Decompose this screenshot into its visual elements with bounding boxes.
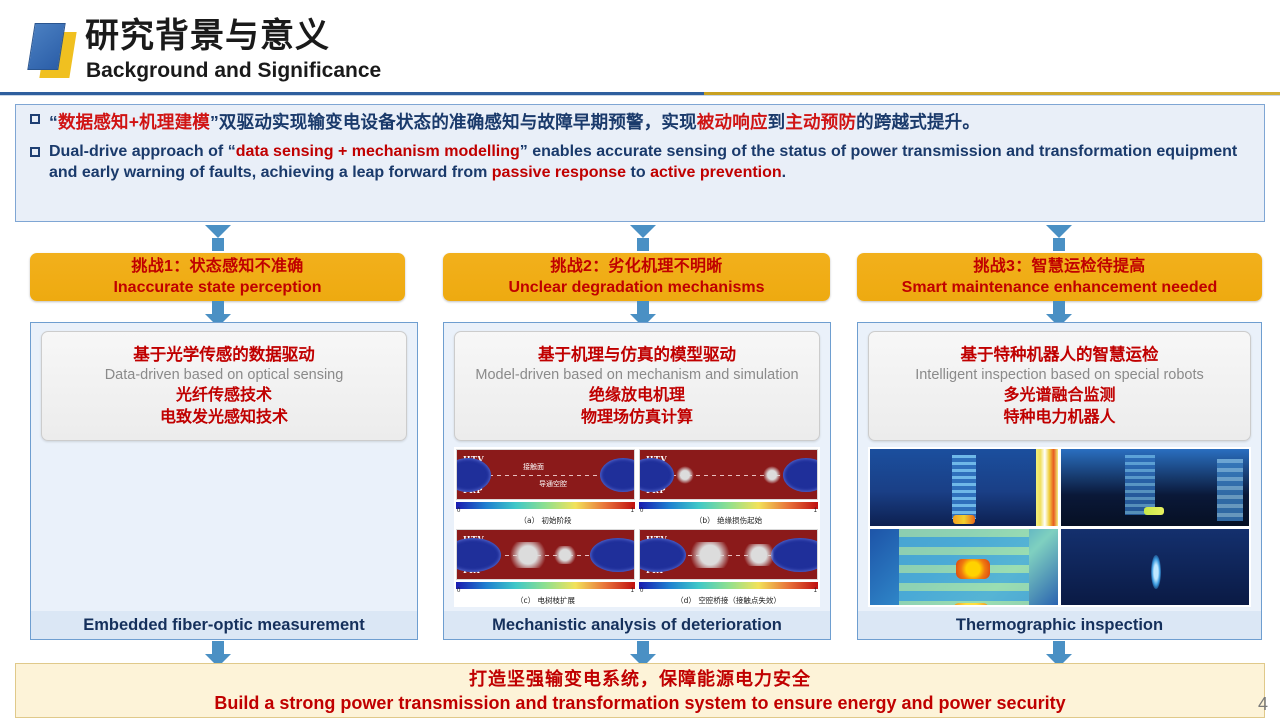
statement-text-en: Dual-drive approach of “data sensing + m… [49, 138, 1264, 183]
colorbar-max: 1 [631, 588, 634, 594]
hotspot [1144, 507, 1164, 515]
approach-keyword: 特种电力机器人 [1003, 407, 1115, 429]
banner-text-en: Build a strong power transmission and tr… [214, 691, 1065, 715]
colorbar-min: 0 [457, 588, 460, 594]
colorbar-max: 1 [631, 508, 634, 514]
page-title-cn: 研究背景与意义 [85, 16, 330, 56]
simulation-image: HTV FRP [639, 529, 818, 580]
figure-caption: Thermographic inspection [956, 616, 1163, 635]
key-statement-box: “数据感知+机理建模”双驱动实现输变电设备状态的准确感知与故障早期预警，实现被动… [15, 104, 1265, 222]
approach-title-cn: 基于机理与仿真的模型驱动 [538, 344, 736, 366]
figure-caption: Embedded fiber-optic measurement [83, 616, 364, 635]
bushing-tube [1217, 459, 1243, 521]
approach-title-cn: 基于光学传感的数据驱动 [133, 344, 315, 366]
thermal-image-bushing [1061, 449, 1249, 526]
void-cavity [456, 458, 491, 492]
simulation-caption: （a） 初始阶段 [456, 509, 635, 525]
electrical-tree [501, 542, 555, 568]
bullet-icon [30, 112, 40, 127]
approach-keyword: 绝缘放电机理 [589, 385, 685, 407]
challenge-title-cn: 挑战2：劣化机理不明晰 [550, 256, 722, 277]
insulator-string [952, 455, 976, 519]
void-cavity [783, 458, 818, 492]
thermal-scale-strip [1036, 449, 1058, 526]
figure-caption-box-1: Embedded fiber-optic measurement [31, 611, 417, 639]
colorbar: 0 1 [639, 502, 818, 509]
void-cavity [600, 458, 635, 492]
electrical-tree [549, 546, 581, 564]
annotation-cavity: 导通空腔 [539, 479, 567, 489]
electrical-tree [680, 542, 740, 568]
header-divider-secondary [0, 95, 1280, 96]
colorbar-max: 1 [814, 588, 817, 594]
challenge-header-3[interactable]: 挑战3：智慧运检待提高 Smart maintenance enhancemen… [857, 253, 1262, 301]
approach-card-1: 基于光学传感的数据驱动 Data-driven based on optical… [41, 331, 407, 441]
void-cavity [639, 458, 674, 492]
electrical-tree [761, 465, 783, 485]
challenge-header-1[interactable]: 挑战1：状态感知不准确 Inaccurate state perception [30, 253, 405, 301]
challenge-title-en: Inaccurate state perception [113, 277, 321, 298]
colorbar-min: 0 [640, 508, 643, 514]
colorbar: 0 1 [456, 582, 635, 589]
challenge-title-cn: 挑战1：状态感知不准确 [131, 256, 303, 277]
approach-keyword: 多光谱融合监测 [1003, 385, 1115, 407]
challenge-title-cn: 挑战3：智慧运检待提高 [973, 256, 1145, 277]
simulation-tile-b: HTV FRP 0 1 （b） 绝缘损伤起始 [639, 449, 818, 525]
brand-logo-icon [27, 20, 85, 82]
approach-title-cn: 基于特种机器人的智慧运检 [961, 344, 1159, 366]
simulation-caption: （d） 空腔桥接（接触点失效） [639, 589, 818, 605]
simulation-image: HTV FRP [456, 529, 635, 580]
simulation-image: HTV FRP [639, 449, 818, 500]
insulator-string [1125, 455, 1155, 515]
simulation-tile-a: HTV FRP 接触面 导通空腔 0 1 （a） 初始阶段 [456, 449, 635, 525]
page-title-en: Background and Significance [86, 58, 381, 83]
void-cavity [639, 538, 686, 572]
simulation-image: HTV FRP 接触面 导通空腔 [456, 449, 635, 500]
column-panel-3: 基于特种机器人的智慧运检 Intelligent inspection base… [857, 322, 1262, 640]
thermal-image-insulator-string [870, 449, 1058, 526]
arrow-down-icon-3 [1046, 225, 1072, 251]
void-cavity [456, 538, 501, 572]
simulation-caption: （c） 电树枝扩展 [456, 589, 635, 605]
thermal-image-insulator-closeup [870, 529, 1058, 606]
figure-caption: Mechanistic analysis of deterioration [492, 616, 782, 635]
banner-text-cn: 打造坚强输变电系统，保障能源电力安全 [469, 667, 811, 691]
simulation-tile-c: HTV FRP 0 1 （c） 电树枝扩展 [456, 529, 635, 605]
slide-header: 研究背景与意义 Background and Significance [0, 0, 1280, 96]
approach-title-en: Data-driven based on optical sensing [105, 366, 344, 385]
colorbar: 0 1 [456, 502, 635, 509]
arrow-down-icon-2 [630, 225, 656, 251]
approach-keyword: 电致发光感知技术 [160, 407, 288, 429]
approach-card-3: 基于特种机器人的智慧运检 Intelligent inspection base… [868, 331, 1251, 441]
colorbar-min: 0 [457, 508, 460, 514]
challenge-header-2[interactable]: 挑战2：劣化机理不明晰 Unclear degradation mechanis… [443, 253, 830, 301]
approach-title-en: Intelligent inspection based on special … [915, 366, 1204, 385]
bullet-icon [30, 145, 40, 160]
statement-row-en: Dual-drive approach of “data sensing + m… [16, 138, 1264, 183]
arrow-down-icon-1 [205, 225, 231, 251]
column-panel-1: 基于光学传感的数据驱动 Data-driven based on optical… [30, 322, 418, 640]
corona-glow [1151, 555, 1161, 589]
hotspot [953, 603, 989, 606]
simulation-tile-d: HTV FRP 0 1 （d） 空腔桥接（接触点失效） [639, 529, 818, 605]
void-cavity [590, 538, 635, 572]
statement-row-cn: “数据感知+机理建模”双驱动实现输变电设备状态的准确感知与故障早期预警，实现被动… [16, 105, 1264, 136]
slide-root: 研究背景与意义 Background and Significance “数据感… [0, 0, 1280, 723]
hotspot [953, 515, 975, 524]
challenge-title-en: Smart maintenance enhancement needed [902, 277, 1218, 298]
colorbar-min: 0 [640, 588, 643, 594]
figure-htv-frp-simulation: HTV FRP 接触面 导通空腔 0 1 （a） 初始阶段 HTV [454, 447, 820, 607]
slide-number: 4 [1258, 694, 1268, 715]
conclusion-banner: 打造坚强输变电系统，保障能源电力安全 Build a strong power … [15, 663, 1265, 718]
electrical-tree [674, 465, 696, 485]
uv-corona-discharge-image [1061, 529, 1249, 606]
figure-caption-box-2: Mechanistic analysis of deterioration [444, 611, 830, 639]
electrical-tree [736, 544, 782, 566]
approach-card-2: 基于机理与仿真的模型驱动 Model-driven based on mecha… [454, 331, 820, 441]
approach-keyword: 物理场仿真计算 [581, 407, 693, 429]
statement-text-cn: “数据感知+机理建模”双驱动实现输变电设备状态的准确感知与故障早期预警，实现被动… [49, 105, 992, 136]
column-panel-2: 基于机理与仿真的模型驱动 Model-driven based on mecha… [443, 322, 831, 640]
approach-title-en: Model-driven based on mechanism and simu… [475, 366, 798, 385]
hotspot [956, 559, 990, 579]
colorbar-max: 1 [814, 508, 817, 514]
annotation-interface: 接触面 [523, 462, 544, 472]
simulation-caption: （b） 绝缘损伤起始 [639, 509, 818, 525]
figure-thermal-inspection [868, 447, 1251, 607]
figure-caption-box-3: Thermographic inspection [858, 611, 1261, 639]
approach-keyword: 光纤传感技术 [176, 385, 272, 407]
colorbar: 0 1 [639, 582, 818, 589]
challenge-title-en: Unclear degradation mechanisms [508, 277, 764, 298]
